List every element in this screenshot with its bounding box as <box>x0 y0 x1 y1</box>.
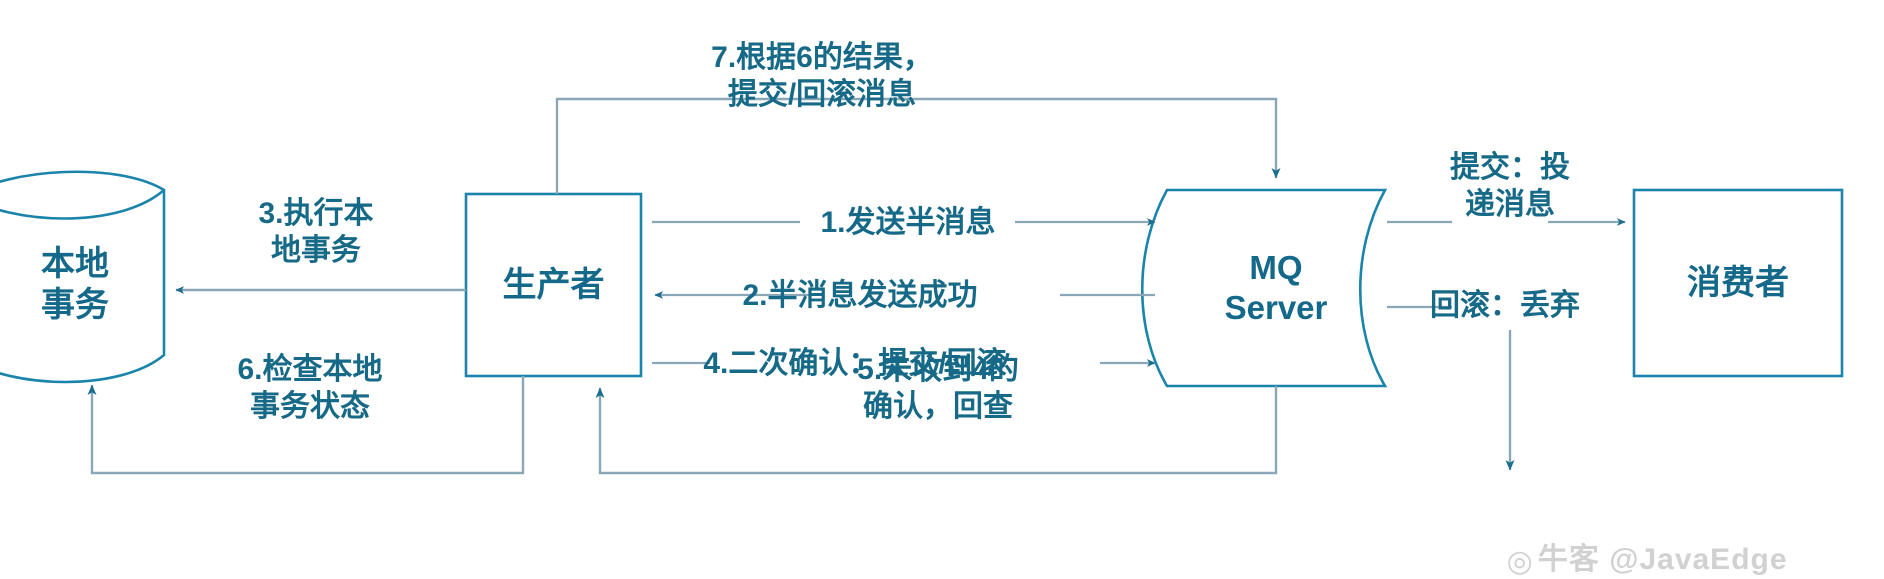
edge-label-step-3: 3.执行本 地事务 <box>186 196 446 269</box>
watermark-text: 牛客 @JavaEdge <box>1538 543 1788 576</box>
edge-label-rollback-discard: 回滚：丢弃 <box>1390 288 1620 325</box>
edge-label-step-1: 1.发送半消息 <box>790 205 1026 242</box>
edge-label-step-7: 7.根据6的结果， 提交/回滚消息 <box>622 40 1022 113</box>
edge-label-step-6: 6.检查本地 事务状态 <box>100 352 520 425</box>
edge-label-commit-deliver: 提交：投 递消息 <box>1400 150 1620 223</box>
edge-label-step-5: 5.未收到4的 确认，回查 <box>640 352 1236 425</box>
edge-label-step-2: 2.半消息发送成功 <box>642 278 1078 315</box>
edge-step-7 <box>557 99 1276 194</box>
node-label-consumer: 消费者 <box>1634 190 1842 376</box>
node-label-local-transaction: 本地 事务 <box>0 215 160 355</box>
watermark: ◎牛客 @JavaEdge <box>1488 500 1788 578</box>
